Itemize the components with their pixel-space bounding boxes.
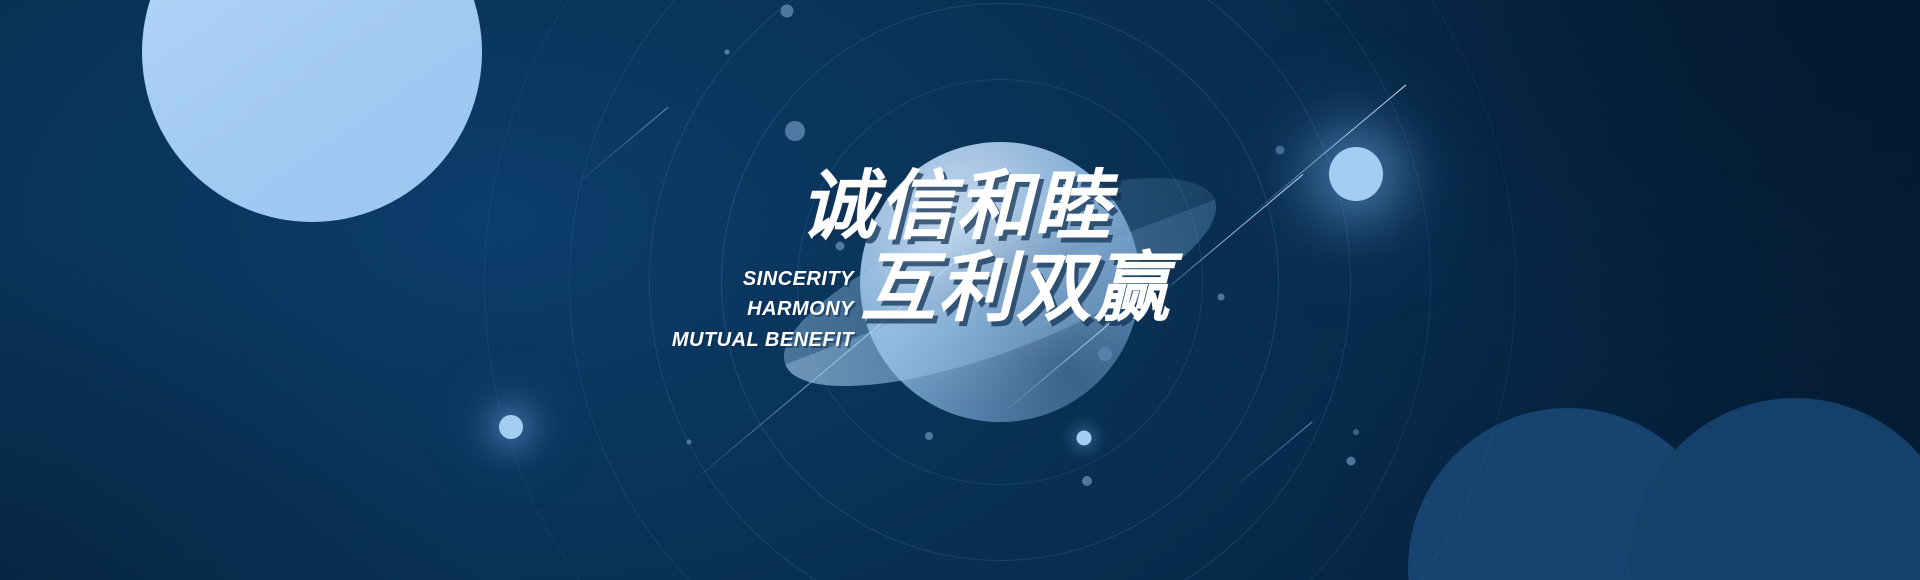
pale-blue-circle-icon xyxy=(142,0,482,222)
orbit-dot-12 xyxy=(1098,347,1112,361)
glow-orb-right xyxy=(1329,147,1383,201)
hero-banner: 诚信和睦 互利双赢 SINCERITY HARMONY MUTUAL BENEF… xyxy=(0,0,1920,580)
orbit-dot-1 xyxy=(781,5,794,18)
orbit-dot-10 xyxy=(925,432,933,440)
orbit-dot-7 xyxy=(1353,429,1359,435)
glow-orb-bottom xyxy=(1077,431,1092,446)
dark-circle-icon-2 xyxy=(1630,398,1920,580)
glow-orb-left xyxy=(499,415,523,439)
orbit-dot-2 xyxy=(725,50,730,55)
orbit-dot-3 xyxy=(785,121,805,141)
orbit-dot-6 xyxy=(1218,294,1225,301)
orbit-dot-8 xyxy=(1347,457,1356,466)
orbit-dot-4 xyxy=(836,242,845,251)
orbit-dot-11 xyxy=(687,440,692,445)
orbit-dot-9 xyxy=(1082,476,1092,486)
orbit-dot-5 xyxy=(1276,146,1285,155)
